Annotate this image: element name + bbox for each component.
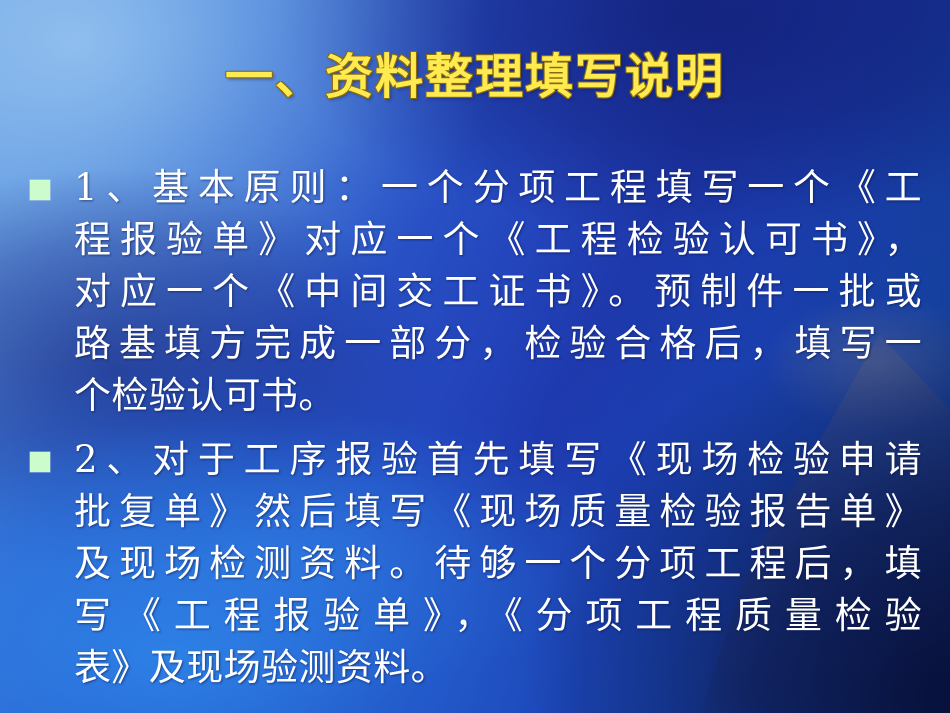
bullet-2-line-3: 及现场检测资料。待够一个分项工程后，填 [74,538,922,590]
bullet-item-1: 1、基本原则：一个分项工程填写一个《工 程报验单》对应一个《工程检验认可书》， … [30,162,922,422]
bullet-1-line-3: 对应一个《中间交工证书》。预制件一批或 [74,266,922,318]
bullet-text-1: 1、基本原则：一个分项工程填写一个《工 程报验单》对应一个《工程检验认可书》， … [74,162,922,422]
slide-content: 一、资料整理填写说明 1、基本原则：一个分项工程填写一个《工 程报验单》对应一个… [0,0,950,713]
bullet-2-line-4: 写《工程报验单》，《分项工程质量检验 [74,590,922,642]
bullet-2-line-2: 批复单》然后填写《现场质量检验报告单》 [74,486,922,538]
bullet-2-line-5: 表》及现场验测资料。 [74,642,922,694]
bullet-2-line-1: 2、对于工序报验首先填写《现场检验申请 [74,434,922,486]
bullet-1-line-5: 个检验认可书。 [74,370,922,422]
slide-body: 1、基本原则：一个分项工程填写一个《工 程报验单》对应一个《工程检验认可书》， … [30,162,922,706]
bullet-text-2: 2、对于工序报验首先填写《现场检验申请 批复单》然后填写《现场质量检验报告单》 … [74,434,922,694]
presentation-slide: 一、资料整理填写说明 1、基本原则：一个分项工程填写一个《工 程报验单》对应一个… [0,0,950,713]
square-bullet-icon [30,180,50,200]
square-bullet-icon [30,452,50,472]
slide-title: 一、资料整理填写说明 [0,52,950,104]
bullet-1-line-1: 1、基本原则：一个分项工程填写一个《工 [74,162,922,214]
bullet-1-line-4: 路基填方完成一部分，检验合格后，填写一 [74,318,922,370]
bullet-1-line-2: 程报验单》对应一个《工程检验认可书》， [74,214,922,266]
bullet-item-2: 2、对于工序报验首先填写《现场检验申请 批复单》然后填写《现场质量检验报告单》 … [30,434,922,694]
